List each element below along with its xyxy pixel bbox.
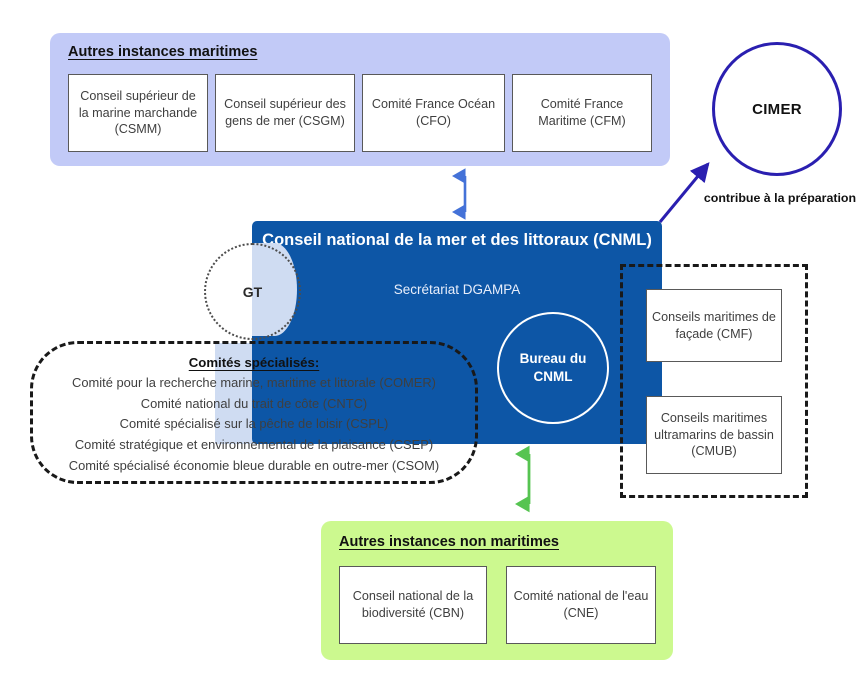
- maritime-instances-title: Autres instances maritimes: [68, 44, 257, 60]
- box-cfm[interactable]: Comité France Maritime (CFM): [512, 74, 652, 152]
- double-arrow-maritime-cnml-icon: [452, 170, 478, 218]
- diagram-canvas: Autres instances maritimes Conseil supér…: [0, 0, 860, 682]
- comites-specialises-content: Comités spécialisés: Comité pour la rech…: [30, 352, 478, 476]
- box-csmm[interactable]: Conseil supérieur de la marine marchande…: [68, 74, 208, 152]
- comite-item: Comité national du trait de côte (CNTC): [30, 394, 478, 415]
- gt-label: GT: [243, 284, 262, 300]
- non-maritime-instances-title: Autres instances non maritimes: [339, 534, 559, 550]
- box-cmf[interactable]: Conseils maritimes de façade (CMF): [646, 289, 782, 362]
- box-cfo[interactable]: Comité France Océan (CFO): [362, 74, 505, 152]
- comite-item: Comité spécialisé sur la pêche de loisir…: [30, 414, 478, 435]
- arrow-contribue-preparation-icon: [660, 160, 740, 230]
- gt-circle[interactable]: GT: [204, 243, 301, 340]
- box-cmub[interactable]: Conseils maritimes ultramarins de bassin…: [646, 396, 782, 474]
- comites-specialises-heading: Comités spécialisés:: [30, 352, 478, 373]
- bureau-cnml-label: Bureau du CNML: [499, 350, 607, 385]
- box-csgm[interactable]: Conseil supérieur des gens de mer (CSGM): [215, 74, 355, 152]
- comite-item: Comité stratégique et environnemental de…: [30, 435, 478, 456]
- bureau-cnml-circle[interactable]: Bureau du CNML: [497, 312, 609, 424]
- comite-item: Comité spécialisé économie bleue durable…: [30, 456, 478, 477]
- cnml-subtitle: Secrétariat DGAMPA: [262, 282, 652, 297]
- box-cbn[interactable]: Conseil national de la biodiversité (CBN…: [339, 566, 487, 644]
- comite-item: Comité pour la recherche marine, maritim…: [30, 373, 478, 394]
- double-arrow-cnml-nonmaritime-icon: [516, 446, 542, 512]
- cnml-title: Conseil national de la mer et des littor…: [262, 229, 652, 251]
- box-cne[interactable]: Comité national de l'eau (CNE): [506, 566, 656, 644]
- cimer-circle[interactable]: CIMER: [712, 42, 842, 176]
- cimer-label-text: CIMER: [752, 101, 802, 118]
